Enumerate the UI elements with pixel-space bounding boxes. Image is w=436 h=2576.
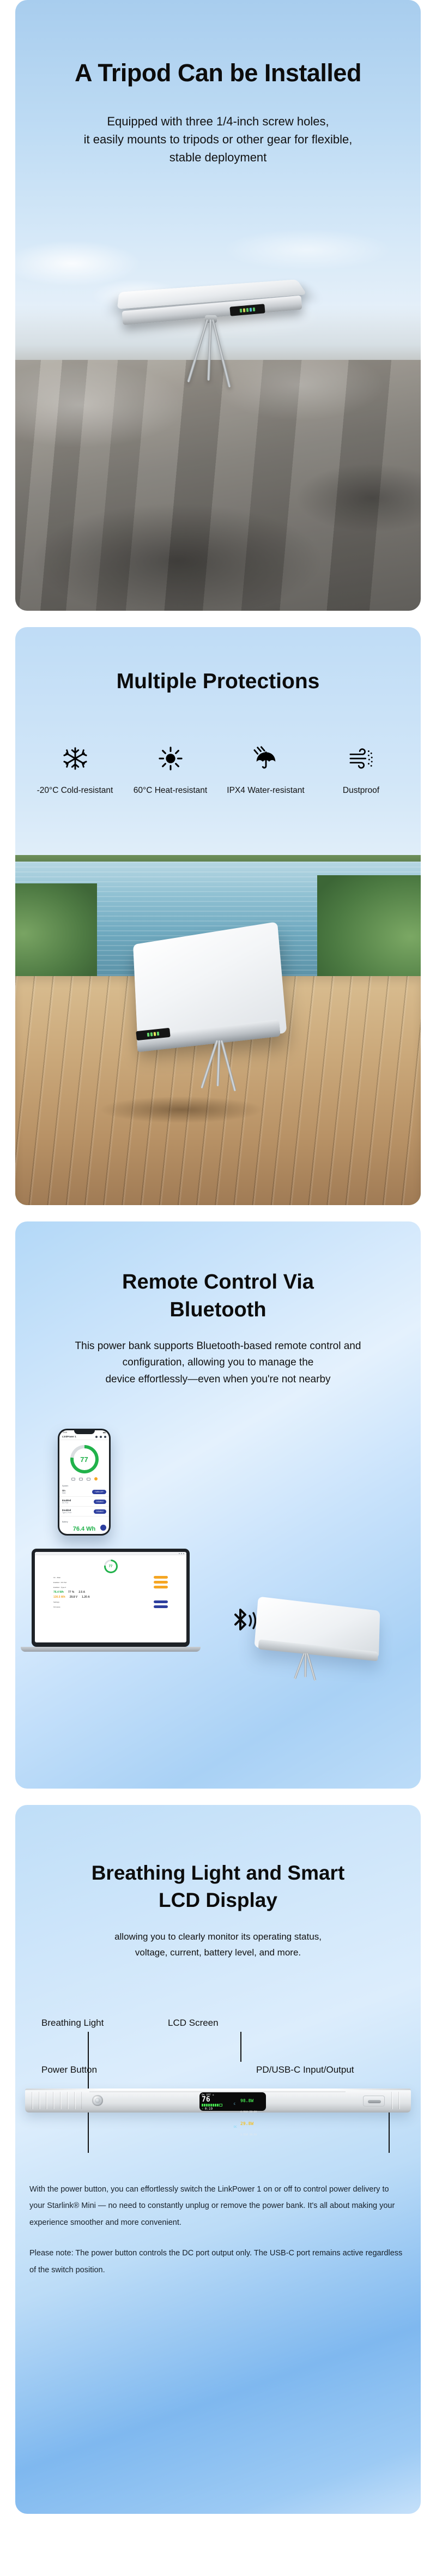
lcd-port-dc-label: DC	[234, 2126, 239, 2129]
feature-label: Dustproof	[318, 786, 405, 796]
section-tripod: A Tripod Can be Installed Equipped with …	[15, 0, 421, 611]
bottom-spacer	[0, 2530, 436, 2557]
feature-heat-resistant: 60°C Heat-resistant	[127, 739, 214, 796]
phone-mockup: 20:08 ▮▮▮ LinkPower 1 77	[58, 1429, 111, 1536]
battery-ring-gauge: 77	[70, 1445, 99, 1473]
usb-c-port[interactable]	[363, 2096, 385, 2106]
device-shadow	[64, 1091, 299, 1129]
row-label: Settings	[53, 1601, 59, 1603]
device-on-deck-illustration	[104, 932, 332, 1096]
section-tripod-subtitle: Equipped with three 1/4-inch screw holes…	[15, 112, 421, 166]
toggle-pill[interactable]	[154, 1576, 168, 1579]
tripod-leg	[294, 1653, 305, 1679]
help-fab-button[interactable]	[100, 1525, 106, 1531]
feature-label: IPX4 Water-resistant	[222, 786, 310, 796]
phone-notch	[74, 1430, 95, 1434]
row-action-button[interactable]: TURN OFF	[92, 1490, 106, 1494]
lcd-port-dc-watts: 29.8W	[240, 2121, 253, 2126]
stat-total-capacity: 130.5 Wh	[53, 1596, 65, 1599]
toggle-pill[interactable]	[154, 1581, 168, 1584]
leader-line	[88, 2032, 89, 2092]
paragraph-note: Please note: The power button controls t…	[29, 2245, 405, 2278]
laptop-base	[21, 1647, 201, 1652]
subtitle-line: device effortlessly—even when you're not…	[15, 1371, 421, 1388]
bluetooth-icon	[231, 1606, 256, 1638]
lcd-screen: 0% OFF ✲ 76 ⚡ 0:19 C	[199, 2092, 266, 2111]
laptop-app-body: 77 On · Main Enabled · DC Port Enabled ·…	[35, 1555, 186, 1613]
battery-percent: 77	[109, 1565, 113, 1568]
protection-feature-row: -20°C Cold-resistant 60°C Heat-resistant	[15, 739, 421, 796]
stat-row: 130.5 Wh 29.8 V 1.20 A	[53, 1596, 168, 1599]
port-status-chips	[59, 1477, 109, 1480]
toggle-pill[interactable]	[154, 1600, 168, 1603]
feature-cold-resistant: -20°C Cold-resistant	[32, 739, 119, 796]
snowflake-icon	[32, 739, 119, 778]
bulb-icon[interactable]	[100, 1436, 102, 1438]
wind-dust-icon	[318, 739, 405, 778]
tripod-leg	[306, 1653, 316, 1681]
row-name: DC Port	[62, 1502, 68, 1504]
battery-ring-wrap: 77	[59, 1445, 109, 1473]
heatsink-fins-right	[391, 2092, 405, 2109]
laptop-mockup: 77 On · Main Enabled · DC Port Enabled ·…	[32, 1549, 190, 1652]
app-title[interactable]: LinkPower 1	[62, 1435, 76, 1438]
status-icons: ▮▮▮	[103, 1431, 106, 1434]
subtitle-line: it easily mounts to tripods or other gea…	[15, 130, 421, 148]
laptop-lid: 77 On · Main Enabled · DC Port Enabled ·…	[32, 1549, 190, 1647]
tripod-leg	[211, 319, 231, 387]
leader-line	[240, 2032, 241, 2062]
tripod-leg	[207, 320, 212, 381]
device-illustration	[256, 1603, 392, 1685]
tripod-leg	[187, 319, 209, 382]
lcd-battery-bar	[202, 2104, 232, 2106]
feature-water-resistant: IPX4 Water-resistant	[222, 739, 310, 796]
title-line: LCD Display	[15, 1887, 421, 1914]
subtitle-line: This power bank supports Bluetooth-based…	[15, 1338, 421, 1355]
status-time: 20:08	[63, 1431, 67, 1434]
feature-label: -20°C Cold-resistant	[32, 786, 119, 796]
row-label: Enabled · Type-C	[53, 1586, 66, 1588]
gear-icon[interactable]	[104, 1436, 106, 1438]
subtitle-line: stable deployment	[15, 148, 421, 166]
paragraph-main: With the power button, you can effortles…	[29, 2185, 395, 2227]
lcd-port-dc-sub: 1.53A 19.5V	[240, 2134, 257, 2136]
charging-bolt-icon: ⚡	[202, 2107, 204, 2111]
list-item[interactable]: Firmware	[53, 1605, 168, 1608]
toggle-pill[interactable]	[154, 1586, 168, 1588]
row-label: Enabled · DC Port	[53, 1581, 66, 1584]
tripod-leg	[220, 1040, 237, 1091]
heatsink-fins-left	[32, 2092, 82, 2109]
lcd-port-c-label: C	[234, 2103, 239, 2106]
battery-percent: 77	[80, 1455, 88, 1464]
device-on-tripod-illustration	[104, 273, 332, 453]
subtitle-line: Equipped with three 1/4-inch screw holes…	[15, 112, 421, 130]
title-line: Remote Control Via	[15, 1268, 421, 1296]
lcd-battery-number: 76	[202, 2096, 232, 2103]
status-dot-icon	[94, 1477, 98, 1480]
leader-line	[389, 2108, 390, 2153]
lcd-left-panel: 0% OFF ✲ 76 ⚡ 0:19	[202, 2094, 232, 2109]
list-item[interactable]: Enabled · Type-C	[53, 1586, 168, 1588]
feature-dustproof: Dustproof	[318, 739, 405, 796]
subtitle-line: voltage, current, battery level, and mor…	[15, 1945, 421, 1961]
section-bluetooth-title: Remote Control Via Bluetooth	[15, 1268, 421, 1325]
sun-icon	[127, 739, 214, 778]
callout-breathing-light: Breathing Light	[41, 2018, 104, 2029]
device-front-view: 0% OFF ✲ 76 ⚡ 0:19 C	[25, 2089, 411, 2112]
row-action-button[interactable]: DISABLE	[94, 1500, 106, 1504]
row-label: Firmware	[53, 1606, 60, 1608]
subtitle-line: allowing you to clearly monitor its oper…	[15, 1929, 421, 1945]
phone-app-screen: 20:08 ▮▮▮ LinkPower 1 77	[59, 1430, 109, 1534]
leader-line	[88, 2108, 89, 2153]
row-label: On · Main	[53, 1576, 60, 1579]
product-detail-page: A Tripod Can be Installed Equipped with …	[0, 0, 436, 2557]
battery-ring-gauge: 77	[104, 1560, 118, 1573]
stat-level: 77 %	[68, 1591, 74, 1594]
stat-current: 2.5 A	[78, 1591, 85, 1594]
stat-voltage: 29.8 V	[70, 1596, 77, 1599]
lcd-port-c-sub: 4.94A 20.0V	[240, 2111, 257, 2114]
dc-chip-icon	[71, 1478, 75, 1480]
row-action-button[interactable]: DISABLE	[94, 1509, 106, 1514]
section-lcd-subtitle: allowing you to clearly monitor its oper…	[15, 1929, 421, 1961]
section-bluetooth-subtitle: This power bank supports Bluetooth-based…	[15, 1338, 421, 1388]
section-lcd-title: Breathing Light and Smart LCD Display	[15, 1859, 421, 1914]
lcd-time-value: 0:19	[205, 2107, 213, 2111]
app-top-bar: LinkPower 1	[59, 1434, 109, 1440]
lcd-right-panel: C 98.8W 4.94A 20.0V DC 29.8W 1.53A 19.5V	[234, 2094, 264, 2109]
app-bar-icons[interactable]	[95, 1436, 106, 1438]
feature-label: 60°C Heat-resistant	[127, 786, 214, 796]
lcd-port-c-watts: 98.8W	[240, 2098, 253, 2103]
callout-lcd-screen: LCD Screen	[168, 2018, 219, 2029]
lcd-port-dc-block: DC 29.8W 1.53A 19.5V	[234, 2117, 264, 2138]
stat-row: 76.4 Wh 77 % 2.5 A	[53, 1591, 168, 1594]
battery-section-header: Battery	[59, 1521, 109, 1523]
subtitle-line: configuration, allowing you to manage th…	[15, 1355, 421, 1371]
info-icon[interactable]	[95, 1436, 98, 1438]
umbrella-rain-icon	[222, 739, 310, 778]
list-item[interactable]: On · Main	[53, 1576, 168, 1579]
section-tripod-title: A Tripod Can be Installed	[15, 59, 421, 87]
usb-chip-icon	[79, 1478, 83, 1480]
list-item[interactable]: Settings	[53, 1600, 168, 1603]
list-item[interactable]: Enabled Type-C Port DISABLE	[59, 1507, 109, 1516]
tripod-leg	[201, 1040, 219, 1088]
section-lcd-paragraph: With the power button, you can effortles…	[29, 2181, 405, 2278]
callout-usb-c: PD/USB-C Input/Output	[256, 2065, 354, 2075]
section-breathing-light-lcd: Breathing Light and Smart LCD Display al…	[15, 1805, 421, 2514]
stat-output: 1.20 A	[82, 1596, 90, 1599]
section-remote-control-bluetooth: Remote Control Via Bluetooth This power …	[15, 1221, 421, 1789]
section-multiple-protections: Multiple Protections -20°C Cold-resistan…	[15, 627, 421, 1205]
title-line: Bluetooth	[15, 1296, 421, 1324]
lcd-time-row: ⚡ 0:19	[202, 2107, 232, 2111]
bluetooth-icon: ✲	[213, 2094, 214, 2097]
lcd-port-c-block: C 98.8W 4.94A 20.0V	[234, 2094, 264, 2115]
tripod-leg	[304, 1653, 307, 1677]
laptop-app-screen: 77 On · Main Enabled · DC Port Enabled ·…	[35, 1552, 186, 1642]
tripod-leg	[216, 1040, 221, 1086]
callout-power-button: Power Button	[41, 2065, 97, 2075]
row-name: Main	[62, 1492, 66, 1494]
list-item[interactable]: Enabled DC Port DISABLE	[59, 1497, 109, 1507]
section-protections-title: Multiple Protections	[15, 670, 421, 694]
breathing-light-button[interactable]	[92, 2095, 103, 2106]
toggle-pill[interactable]	[154, 1605, 168, 1608]
stat-remaining: 76.4 Wh	[53, 1591, 64, 1594]
list-item[interactable]: On Main TURN OFF	[59, 1487, 109, 1497]
row-name: Type-C Port	[62, 1512, 71, 1514]
title-line: Breathing Light and Smart	[15, 1859, 421, 1887]
type-c-chip-icon	[87, 1478, 90, 1480]
list-item[interactable]: Enabled · DC Port	[53, 1581, 168, 1584]
